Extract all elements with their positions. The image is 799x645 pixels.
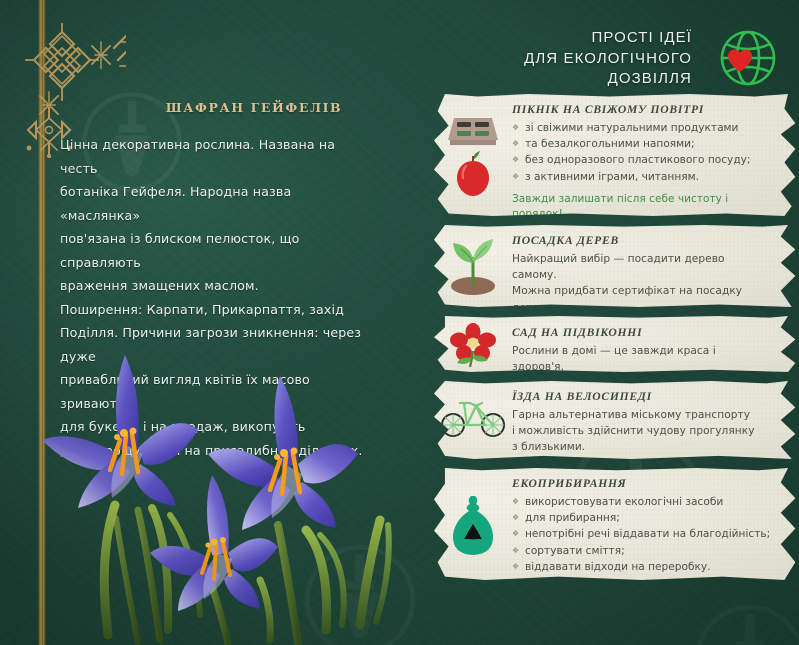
list-item: непотрібні речі віддавати на благодійніс…: [512, 526, 771, 542]
list-item-continuation: та безалкогольними напоями;: [512, 136, 771, 152]
card-footnote: Завжди залишати після себе чистоту і пор…: [512, 192, 771, 222]
page-root: ШАФРАН ГЕЙФЕЛІВ Цінна декоративна рослин…: [0, 0, 799, 645]
description-line: Поширення: Карпати, Прикарпаття, захід: [60, 298, 368, 322]
list-item: без одноразового пластикового посуду;: [512, 152, 771, 168]
list-item: з активними іграми, читанням.: [512, 169, 771, 185]
eco-title-line-2: ДЛЯ ЕКОЛОГІЧНОГО: [520, 49, 692, 70]
card-content: ПІКНІК НА СВІЖОМУ ПОВІТРІ зі свіжими нат…: [512, 94, 799, 233]
eco-ideas-card-list: ПІКНІК НА СВІЖОМУ ПОВІТРІ зі свіжими нат…: [434, 94, 799, 589]
card-text-line: Можна придбати сертифікат на посадку дер…: [512, 283, 771, 315]
card-icon-slot: [434, 381, 512, 467]
card-bullet-list: зі свіжими натуральними продуктами та бе…: [512, 120, 771, 185]
card-text-line: Найкращий вибір — посадити дерево самому…: [512, 251, 771, 283]
card-tree-planting[interactable]: ПОСАДКА ДЕРЕВ Найкращий вибір — посадити…: [434, 225, 799, 307]
card-content: САД НА ПІДВІКОННІ Рослини в домі — це за…: [512, 316, 799, 386]
card-icon-slot: [434, 468, 512, 586]
card-text-line: і можливість здійснити чудову прогулянку: [512, 423, 771, 439]
card-icon-slot: [434, 316, 512, 386]
card-text-line: Гарна альтернатива міському транспорту: [512, 407, 771, 423]
card-windowsill-garden[interactable]: САД НА ПІДВІКОННІ Рослини в домі — це за…: [434, 316, 799, 372]
description-line: пов'язана із блиском пелюсток, що справл…: [60, 227, 368, 274]
card-title: ЇЗДА НА ВЕЛОСИПЕДІ: [512, 390, 771, 403]
card-picnic[interactable]: ПІКНІК НА СВІЖОМУ ПОВІТРІ зі свіжими нат…: [434, 94, 799, 216]
list-item-continuation: для прибирання;: [512, 510, 771, 526]
page-title: ШАФРАН ГЕЙФЕЛІВ: [98, 100, 410, 115]
card-cycling[interactable]: ЇЗДА НА ВЕЛОСИПЕДІ Гарна альтернатива мі…: [434, 381, 799, 459]
globe-with-heart-icon: [706, 26, 780, 96]
crocus-flowers-illustration: [20, 340, 440, 645]
card-text-line: з близькими.: [512, 439, 771, 455]
eco-header-title: ПРОСТІ ІДЕЇ ДЛЯ ЕКОЛОГІЧНОГО ДОЗВІЛЛЯ: [520, 28, 692, 90]
eco-title-line-3: ДОЗВІЛЛЯ: [520, 69, 692, 90]
list-item: зі свіжими натуральними продуктами: [512, 120, 771, 136]
card-title: ЕКОПРИБИРАННЯ: [512, 477, 771, 490]
recycling-bag-icon: [445, 490, 501, 560]
description-line: враження змащених маслом.: [60, 274, 368, 298]
red-flower-icon: [447, 323, 499, 369]
picnic-table-and-apple-icon: [442, 104, 504, 204]
card-title: ПОСАДКА ДЕРЕВ: [512, 234, 771, 247]
card-content: ЇЗДА НА ВЕЛОСИПЕДІ Гарна альтернатива мі…: [512, 381, 799, 467]
list-item: віддавати відходи на переробку.: [512, 559, 771, 575]
trowel-emblem-watermark: [690, 600, 799, 645]
seedling-sprout-icon: [443, 235, 503, 297]
card-eco-cleaning[interactable]: ЕКОПРИБИРАННЯ використовувати екологічні…: [434, 468, 799, 580]
description-line: ботаніка Гейфеля. Народна назва «маслянк…: [60, 180, 368, 227]
eco-header: ПРОСТІ ІДЕЇ ДЛЯ ЕКОЛОГІЧНОГО ДОЗВІЛЛЯ: [520, 26, 790, 98]
description-line: Цінна декоративна рослина. Названа на че…: [60, 133, 368, 180]
eco-title-line-1: ПРОСТІ ІДЕЇ: [520, 28, 692, 49]
card-title: САД НА ПІДВІКОННІ: [512, 326, 771, 339]
list-item: використовувати екологічні засоби: [512, 494, 771, 510]
card-icon-slot: [434, 94, 512, 233]
bicycle-icon: [440, 394, 506, 438]
card-title: ПІКНІК НА СВІЖОМУ ПОВІТРІ: [512, 103, 771, 116]
list-item: сортувати сміття;: [512, 543, 771, 559]
card-content: ЕКОПРИБИРАННЯ використовувати екологічні…: [512, 468, 799, 586]
card-bullet-list: використовувати екологічні засоби для пр…: [512, 494, 771, 575]
card-text-line: Рослини в домі — це завжди краса і здоро…: [512, 343, 771, 375]
